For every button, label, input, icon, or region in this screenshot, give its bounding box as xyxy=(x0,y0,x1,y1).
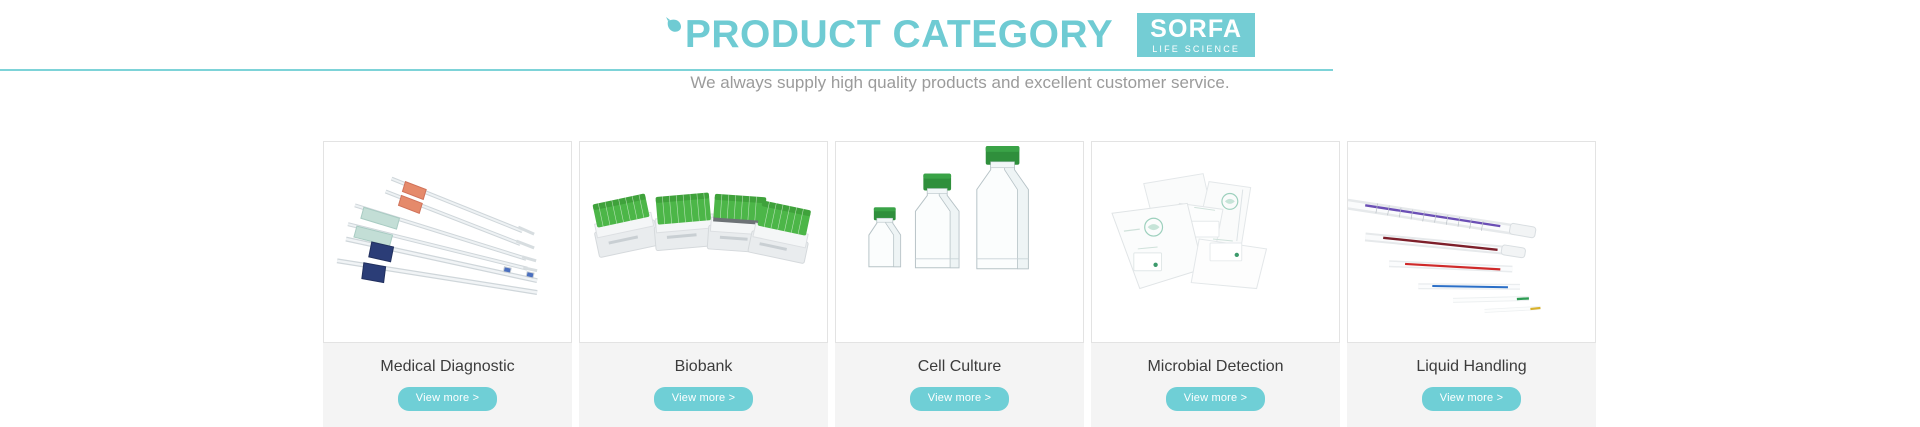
view-more-button[interactable]: View more > xyxy=(1422,387,1521,411)
biobank-cryovial-racks-image xyxy=(579,141,828,343)
view-more-button[interactable]: View more > xyxy=(910,387,1009,411)
microbial-detection-sample-bags-image xyxy=(1091,141,1340,343)
brand-tagline: LIFE SCIENCE xyxy=(1152,43,1240,55)
liquid-handling-serological-pipettes-image xyxy=(1347,141,1596,343)
card-title: Microbial Detection xyxy=(1147,357,1283,377)
product-card-biobank[interactable]: Biobank View more > xyxy=(579,141,828,427)
medical-diagnostic-pipettes-image xyxy=(323,141,572,343)
product-card-cell-culture[interactable]: Cell Culture View more > xyxy=(835,141,1084,427)
card-title: Cell Culture xyxy=(918,357,1002,377)
card-footer: Medical Diagnostic View more > xyxy=(323,343,572,427)
brand-name: SORFA xyxy=(1150,17,1242,42)
card-title: Biobank xyxy=(675,357,733,377)
card-footer: Microbial Detection View more > xyxy=(1091,343,1340,427)
view-more-button[interactable]: View more > xyxy=(398,387,497,411)
sorfa-brand-logo: SORFA LIFE SCIENCE xyxy=(1137,13,1255,57)
card-footer: Liquid Handling View more > xyxy=(1347,343,1596,427)
card-footer: Cell Culture View more > xyxy=(835,343,1084,427)
section-header: PRODUCT CATEGORY SORFA LIFE SCIENCE xyxy=(0,0,1920,72)
page-subtitle: We always supply high quality products a… xyxy=(0,71,1920,95)
view-more-button[interactable]: View more > xyxy=(1166,387,1265,411)
product-card-microbial-detection[interactable]: Microbial Detection View more > xyxy=(1091,141,1340,427)
product-category-grid: Medical Diagnostic View more > xyxy=(323,141,1603,427)
cell-culture-flasks-image xyxy=(835,141,1084,343)
header-title-row: PRODUCT CATEGORY SORFA LIFE SCIENCE xyxy=(0,12,1920,70)
product-card-liquid-handling[interactable]: Liquid Handling View more > xyxy=(1347,141,1596,427)
page-title: PRODUCT CATEGORY xyxy=(685,12,1113,58)
leaf-icon xyxy=(665,17,683,37)
view-more-button[interactable]: View more > xyxy=(654,387,753,411)
card-title: Medical Diagnostic xyxy=(380,357,514,377)
product-card-medical-diagnostic[interactable]: Medical Diagnostic View more > xyxy=(323,141,572,427)
card-footer: Biobank View more > xyxy=(579,343,828,427)
card-title: Liquid Handling xyxy=(1416,357,1526,377)
